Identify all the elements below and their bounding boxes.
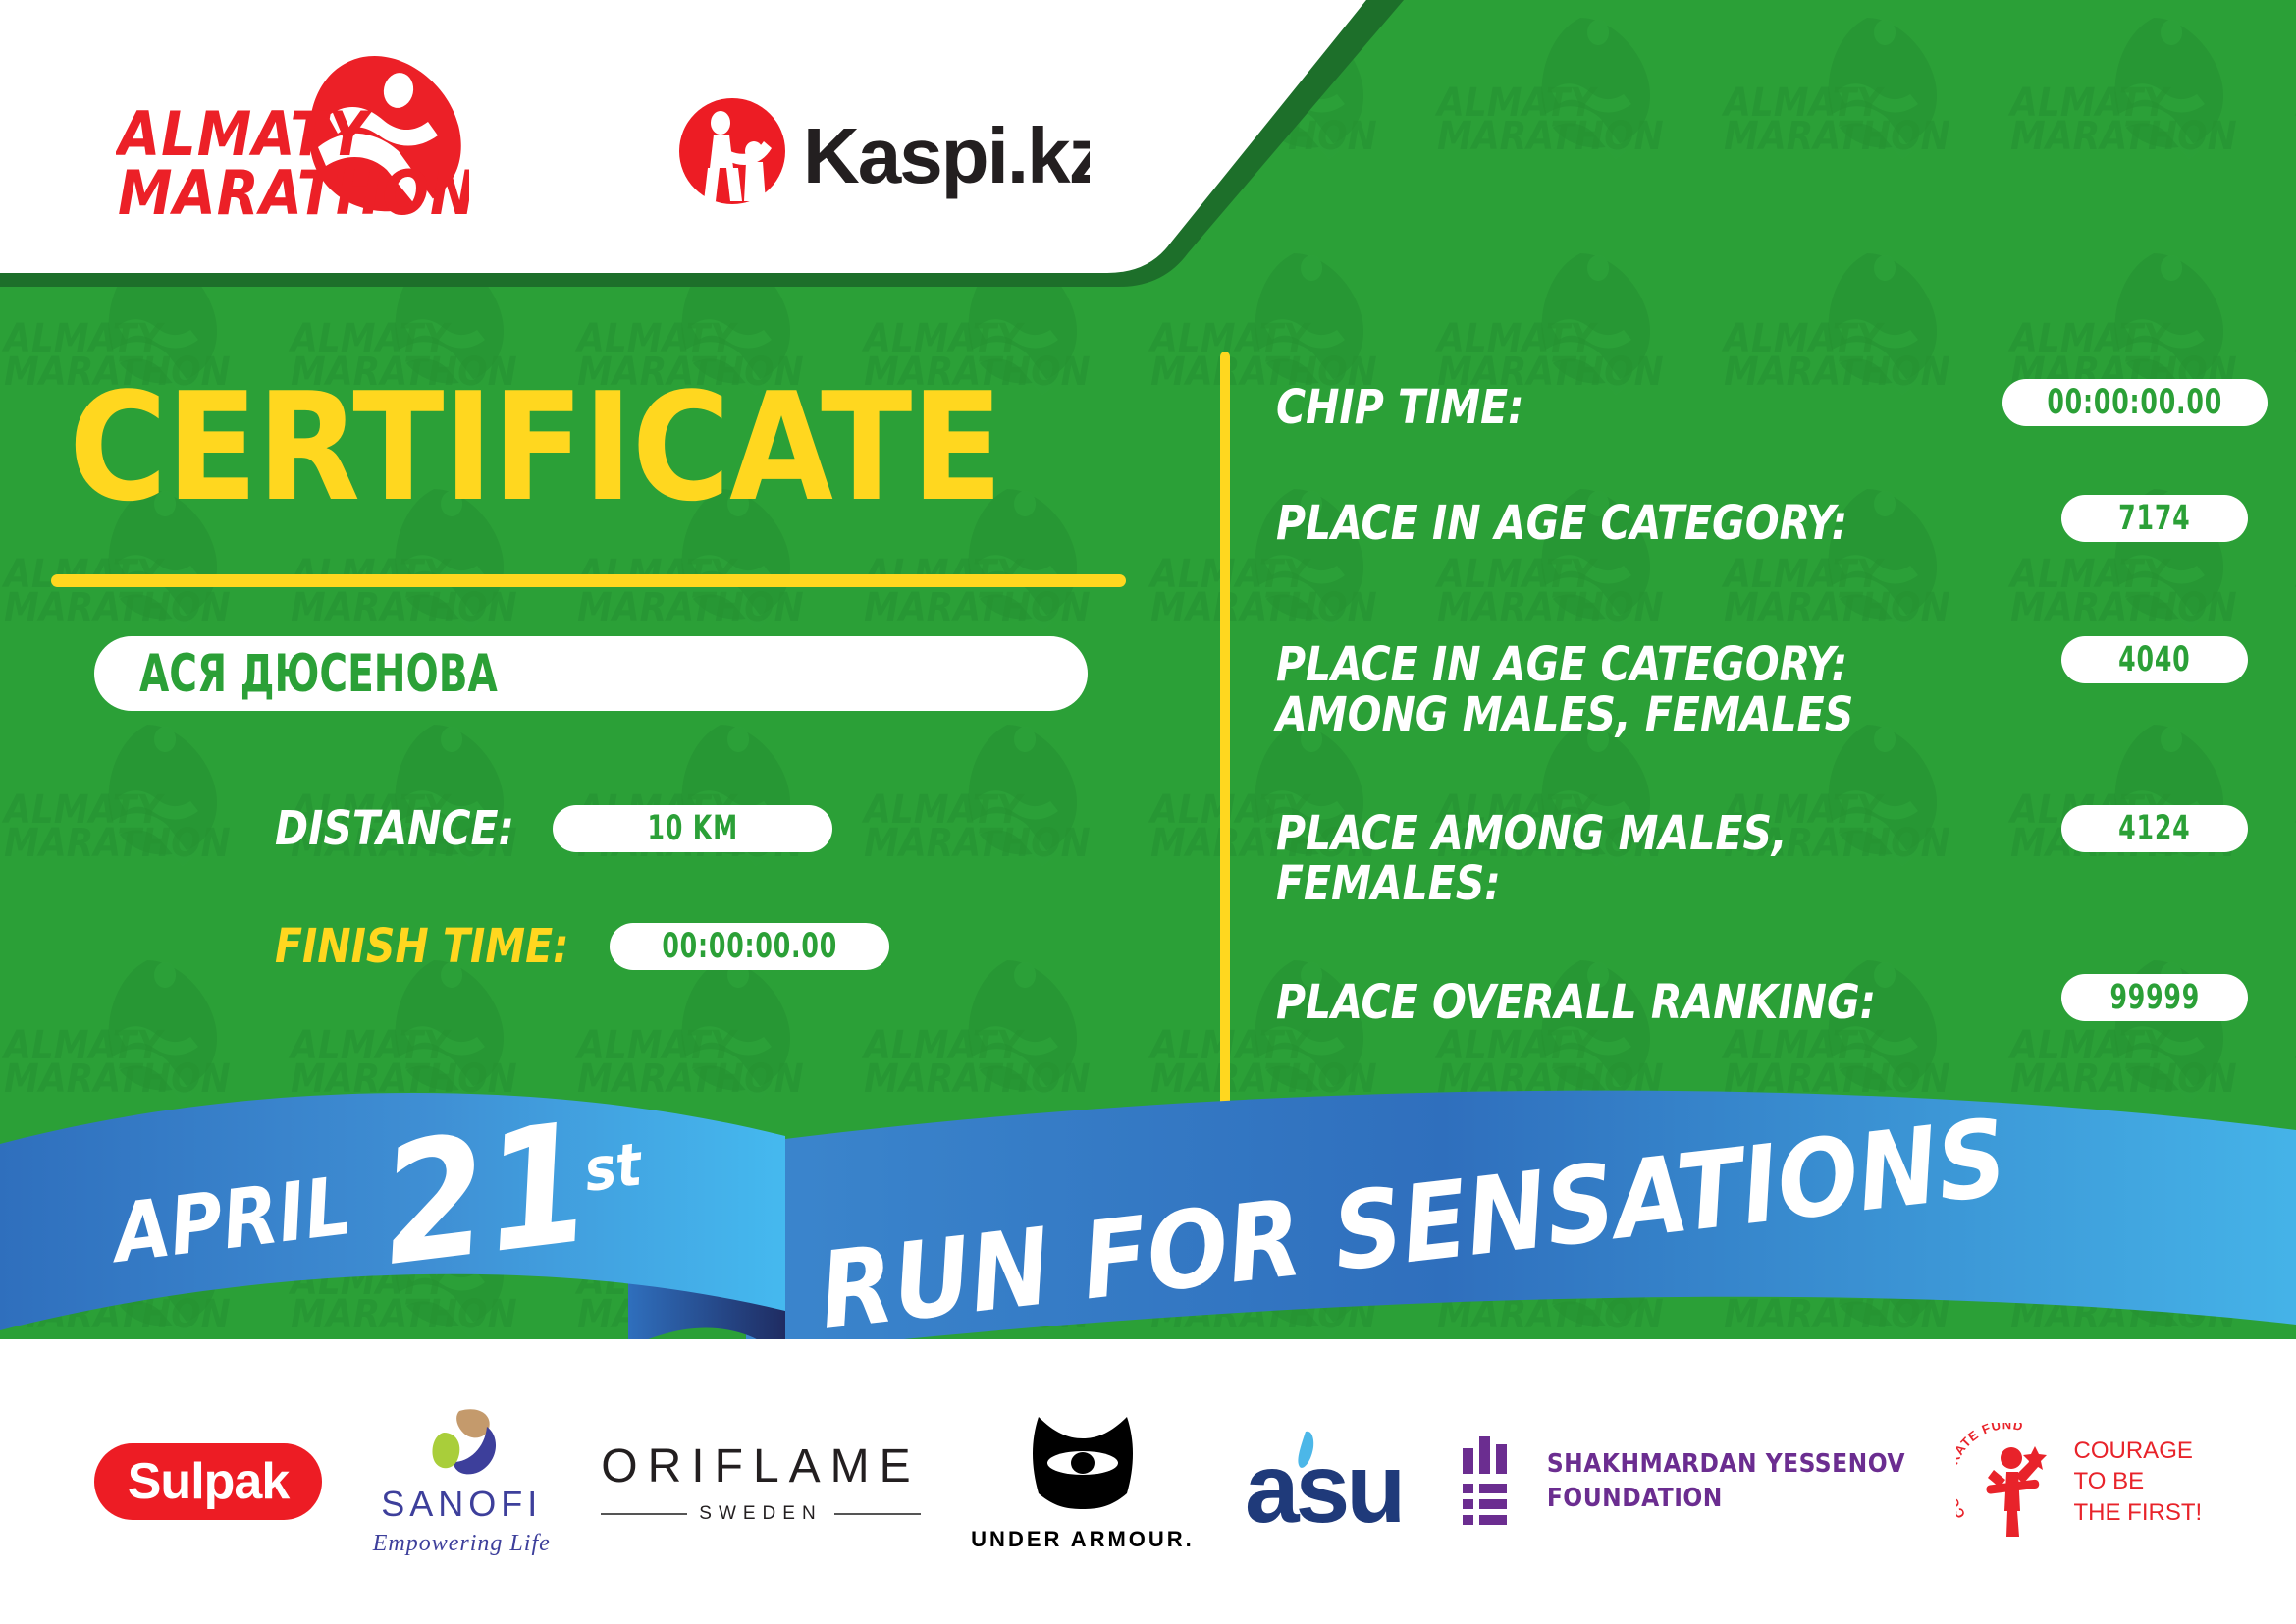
- participant-name-value: АСЯ ДЮСЕНОВА: [139, 644, 498, 704]
- finish-time-value: 00:00:00.00: [662, 927, 837, 966]
- kaspi-kz-logo: Kaspi.kz: [677, 90, 1090, 213]
- distance-value-pill: 10 KM: [553, 805, 832, 852]
- yessenov-line1: SHAKHMARDAN YESSENOV: [1547, 1447, 1905, 1482]
- vertical-divider: [1220, 352, 1230, 1110]
- place-age-category-label: PLACE IN AGE CATEGORY:: [1276, 499, 1847, 549]
- sponsor-bar: Sulpak SANOFI Empowering Life ORIFLAME S…: [0, 1339, 2296, 1624]
- participant-name-field[interactable]: АСЯ ДЮСЕНОВА: [94, 636, 1088, 711]
- asu-icon: asu: [1245, 1428, 1410, 1536]
- finish-time-row: FINISH TIME: 00:00:00.00: [275, 919, 889, 974]
- under-armour-icon: [1009, 1411, 1156, 1521]
- corporate-fund-text-block: COURAGE TO BE THE FIRST!: [2074, 1435, 2203, 1528]
- place-age-category-among-label: PLACE IN AGE CATEGORY: AMONG MALES, FEMA…: [1276, 640, 1853, 740]
- finish-time-value-pill: 00:00:00.00: [610, 923, 889, 970]
- corporate-fund-line2: TO BE: [2074, 1466, 2203, 1496]
- title-underline: [51, 574, 1126, 587]
- place-age-category-value: 7174: [2118, 499, 2190, 538]
- ribbon-day: 21: [372, 1087, 601, 1303]
- place-overall-ranking-value: 99999: [2109, 978, 2200, 1017]
- place-age-category-among-value: 4040: [2118, 640, 2190, 679]
- stat-row-chip-time: CHIP TIME: 00:00:00.00: [1276, 383, 2268, 499]
- stats-panel: CHIP TIME: 00:00:00.00 PLACE IN AGE CATE…: [1276, 383, 2268, 1086]
- place-age-category-value-pill: 7174: [2061, 495, 2248, 542]
- distance-label: DISTANCE:: [275, 801, 514, 856]
- oriflame-rule-right: [834, 1513, 921, 1515]
- sanofi-tagline: Empowering Life: [373, 1531, 551, 1557]
- kaspi-wordmark: Kaspi.kz: [803, 112, 1090, 199]
- place-age-category-among-value-pill: 4040: [2061, 636, 2248, 683]
- marathon-text: MARATHON: [118, 157, 469, 223]
- certificate-canvas: ALMATY MARATHON ALMATY MARATHON: [0, 0, 2296, 1624]
- chip-time-label: CHIP TIME:: [1276, 383, 1524, 433]
- sponsor-oriflame[interactable]: ORIFLAME SWEDEN: [601, 1439, 920, 1525]
- page-title: CERTIFICATE: [69, 373, 1168, 522]
- place-overall-ranking-label: PLACE OVERALL RANKING:: [1276, 978, 1876, 1028]
- ribbon-ordinal: st: [580, 1130, 647, 1206]
- stat-row-place-age-category-among: PLACE IN AGE CATEGORY: AMONG MALES, FEMA…: [1276, 640, 2268, 809]
- sponsor-yessenov-foundation[interactable]: SHAKHMARDAN YESSENOV FOUNDATION: [1461, 1435, 1905, 1529]
- distance-row: DISTANCE: 10 KM: [275, 801, 832, 856]
- chip-time-value-pill: 00:00:00.00: [2002, 379, 2268, 426]
- yessenov-icon: [1461, 1435, 1525, 1529]
- yessenov-text-block: SHAKHMARDAN YESSENOV FOUNDATION: [1547, 1447, 1905, 1516]
- distance-value: 10 KM: [647, 809, 737, 848]
- chip-time-value: 00:00:00.00: [2048, 383, 2223, 422]
- corporate-fund-line3: THE FIRST!: [2074, 1497, 2203, 1528]
- sponsor-asu[interactable]: asu: [1245, 1428, 1410, 1536]
- almaty-marathon-logo: ALMATY MARATHON: [116, 51, 469, 223]
- stat-row-place-age-category: PLACE IN AGE CATEGORY: 7174: [1276, 499, 2268, 640]
- oriflame-sub: SWEDEN: [601, 1503, 920, 1525]
- sponsor-under-armour[interactable]: UNDER ARMOUR.: [971, 1411, 1195, 1552]
- stat-row-place-among-males-females: PLACE AMONG MALES, FEMALES: 4124: [1276, 809, 2268, 978]
- sponsor-corporate-fund[interactable]: CORPORATE FUND COURAGE TO BE THE FIRST!: [1956, 1423, 2203, 1541]
- sponsor-sanofi[interactable]: SANOFI Empowering Life: [373, 1407, 551, 1557]
- asu-wordmark: asu: [1245, 1434, 1402, 1536]
- stat-row-place-overall-ranking: PLACE OVERALL RANKING: 99999: [1276, 978, 2268, 1086]
- place-among-males-females-value-pill: 4124: [2061, 805, 2248, 852]
- corporate-fund-icon: CORPORATE FUND: [1956, 1423, 2064, 1541]
- under-armour-wordmark: UNDER ARMOUR.: [971, 1527, 1195, 1552]
- oriflame-wordmark: ORIFLAME: [601, 1439, 920, 1493]
- finish-time-label: FINISH TIME:: [275, 919, 569, 974]
- sponsor-sulpak[interactable]: Sulpak: [94, 1443, 323, 1520]
- sanofi-wordmark: SANOFI: [381, 1484, 542, 1525]
- sanofi-icon: [414, 1407, 508, 1480]
- place-overall-ranking-value-pill: 99999: [2061, 974, 2248, 1021]
- oriflame-rule-left: [601, 1513, 687, 1515]
- corporate-fund-line1: COURAGE: [2074, 1435, 2203, 1466]
- sulpak-wordmark: Sulpak: [128, 1452, 290, 1511]
- place-among-males-females-value: 4124: [2118, 809, 2190, 848]
- place-among-males-females-label: PLACE AMONG MALES, FEMALES:: [1276, 809, 1788, 909]
- yessenov-line2: FOUNDATION: [1547, 1482, 1905, 1516]
- oriflame-tagline: SWEDEN: [699, 1503, 822, 1525]
